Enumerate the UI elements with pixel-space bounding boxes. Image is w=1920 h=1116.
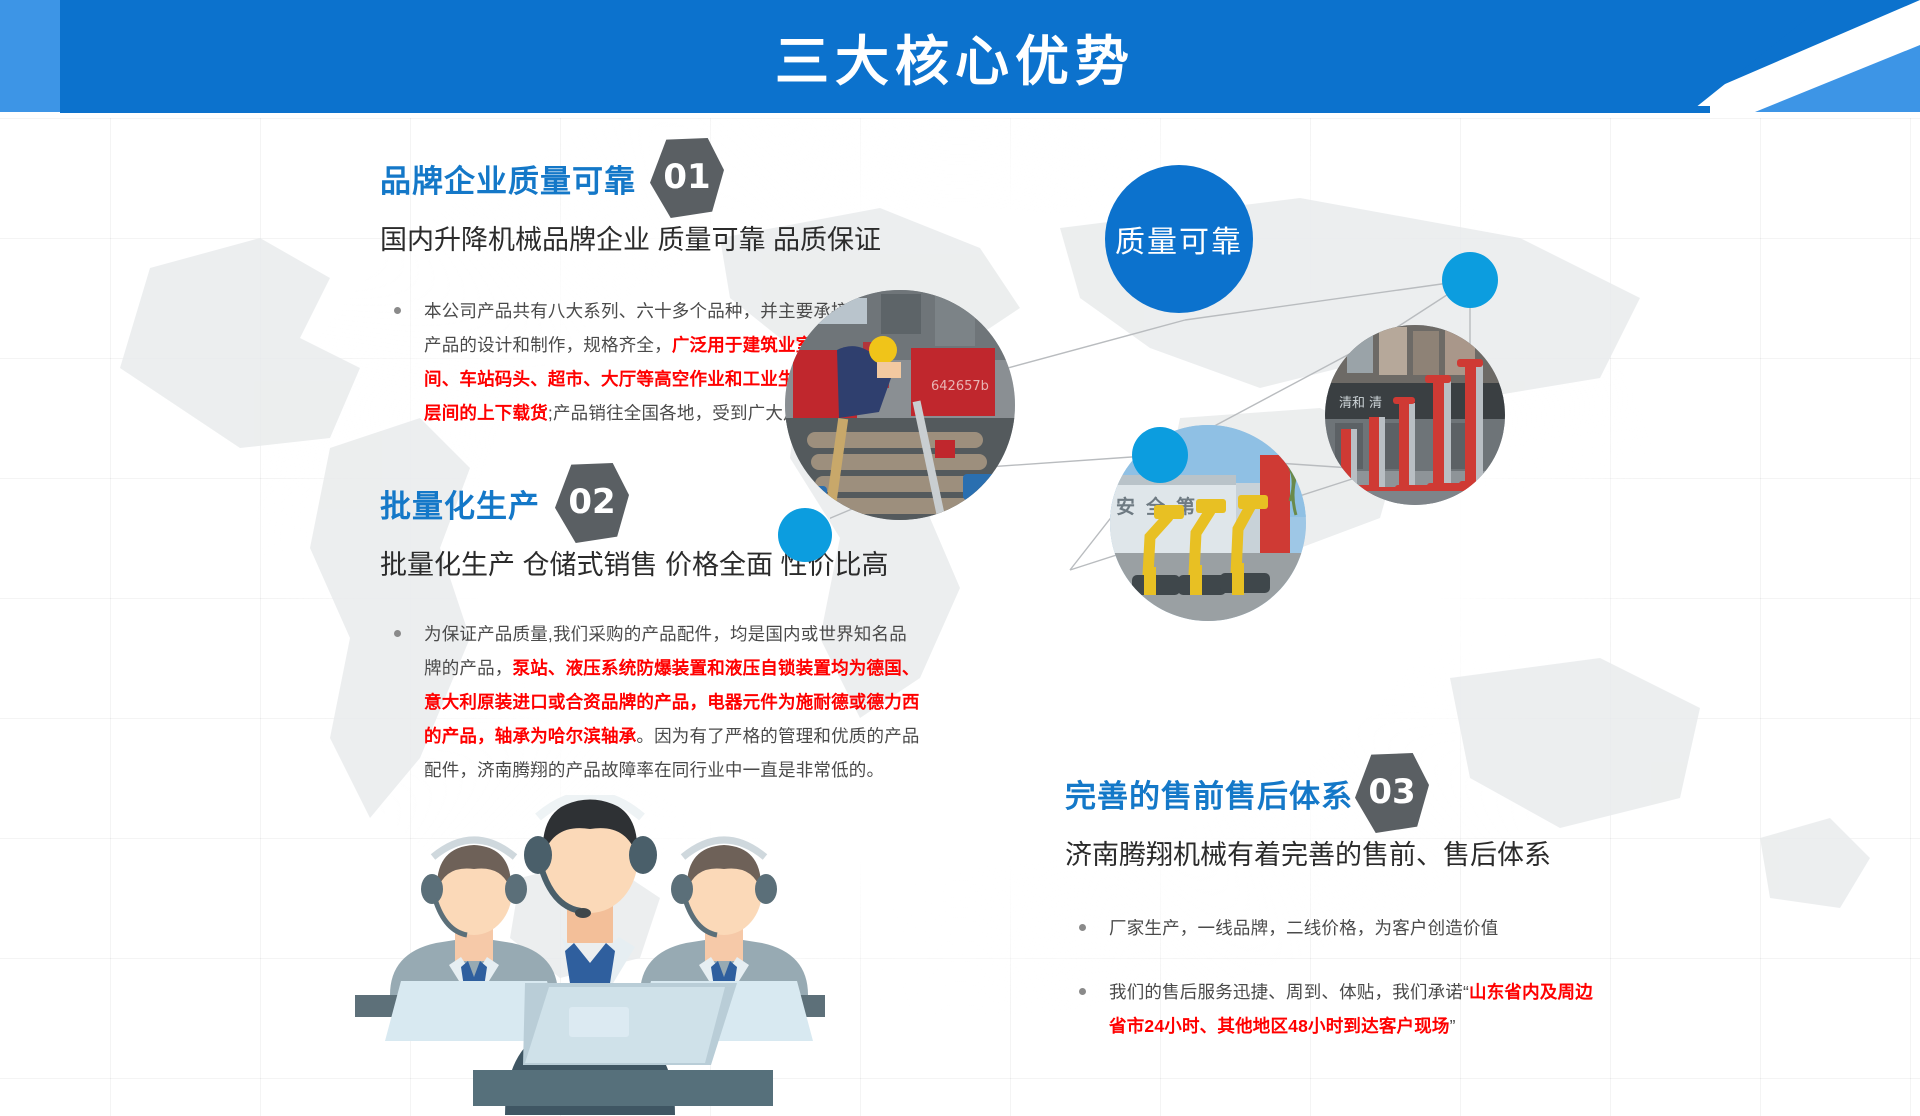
network-diagram: 质量可靠 642657b [830,140,1920,700]
svg-text:642657b: 642657b [931,379,989,394]
section-03-number-badge: 03 [1355,753,1429,833]
header-banner: 三大核心优势 [0,0,1920,118]
svg-text:安: 安 [1116,495,1135,518]
factory-cutting-machine-photo: 642657b [785,290,1015,520]
section-02-title: 批量化生产 [380,485,540,529]
network-dot-left [778,508,832,562]
hub-circle-label: 质量可靠 [1115,217,1243,261]
section-03-subtitle: 济南腾翔机械有着完善的售前、售后体系 [1065,833,1625,877]
section-01-number: 01 [663,157,710,197]
hub-circle-quality: 质量可靠 [1105,165,1253,313]
bullet-item: 厂家生产，一线品牌，二线价格，为客户创造价值 [1065,911,1610,945]
section-03-bullets: 厂家生产，一线品牌，二线价格，为客户创造价值 我们的售后服务迅捷、周到、体贴，我… [1065,911,1610,1043]
body-text: 我们的售后服务迅捷、周到、体贴，我们承诺“ [1109,982,1469,1002]
bullet-item: 我们的售后服务迅捷、周到、体贴，我们承诺“山东省内及周边省市24小时、其他地区4… [1065,975,1610,1043]
body-text: 厂家生产，一线品牌，二线价格，为客户创造价值 [1109,918,1498,938]
network-dot-center [1132,427,1188,483]
section-03-number: 03 [1368,772,1415,812]
call-center-agents [355,795,825,1115]
section-01-number-badge: 01 [650,138,724,218]
page-title: 三大核心优势 [0,0,1920,112]
storefront-lifts-photo: 清和 清 [1325,325,1505,505]
section-02-number-badge: 02 [555,463,629,543]
svg-text:清和 清: 清和 清 [1339,396,1382,411]
section-01-title: 品牌企业质量可靠 [380,160,636,204]
section-03-heading: 完善的售前售后体系 03 [1065,775,1625,829]
network-dot-top-right [1442,252,1498,308]
body-text: ” [1450,1016,1456,1036]
advantage-section-03: 完善的售前售后体系 03 济南腾翔机械有着完善的售前、售后体系 厂家生产，一线品… [1065,775,1625,1065]
section-02-number: 02 [568,482,615,522]
section-03-title: 完善的售前售后体系 [1065,775,1353,819]
